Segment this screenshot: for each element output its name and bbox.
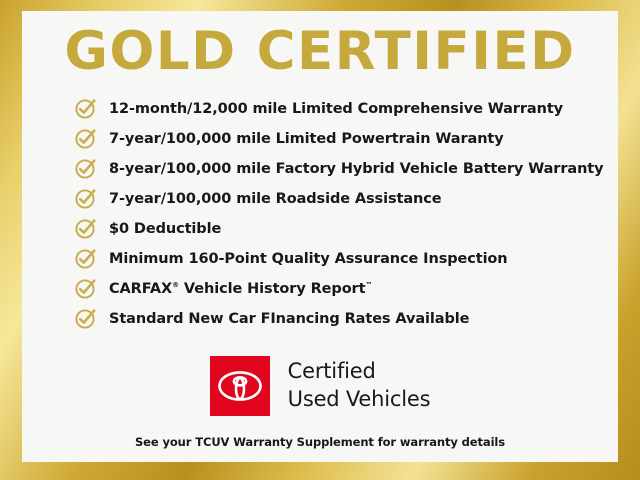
list-item: CARFAX® Vehicle History Report™ — [74, 274, 618, 304]
list-item: 8-year/100,000 mile Factory Hybrid Vehic… — [74, 154, 618, 184]
warranty-disclaimer: See your TCUV Warranty Supplement for wa… — [135, 435, 505, 449]
toyota-certified-badge: Certified Used Vehicles — [210, 356, 431, 416]
registered-mark: ® — [172, 281, 179, 289]
carfax-wordmark: CARFAX — [109, 281, 172, 297]
badge-line-1: Certified — [288, 358, 431, 386]
list-item: 12-month/12,000 mile Limited Comprehensi… — [74, 94, 618, 124]
list-item-label: Standard New Car FInancing Rates Availab… — [109, 311, 469, 327]
list-item: 7-year/100,000 mile Roadside Assistance — [74, 184, 618, 214]
list-item: Standard New Car FInancing Rates Availab… — [74, 304, 618, 334]
certificate-card: GOLD CERTIFIED 12-month/12,000 mile Limi… — [22, 11, 618, 462]
badge-text: Certified Used Vehicles — [288, 358, 431, 413]
gold-certified-certificate: GOLD CERTIFIED 12-month/12,000 mile Limi… — [0, 0, 640, 480]
check-circle-icon — [74, 96, 98, 120]
list-item-label: 7-year/100,000 mile Limited Powertrain W… — [109, 131, 504, 147]
check-circle-icon — [74, 276, 98, 300]
check-circle-icon — [74, 246, 98, 270]
check-circle-icon — [74, 216, 98, 240]
list-item: $0 Deductible — [74, 214, 618, 244]
list-item-label: $0 Deductible — [109, 221, 221, 237]
toyota-logo-icon — [210, 356, 270, 416]
check-circle-icon — [74, 186, 98, 210]
list-item-label: Minimum 160-Point Quality Assurance Insp… — [109, 251, 508, 267]
check-circle-icon — [74, 126, 98, 150]
carfax-report-text: Vehicle History Report — [179, 281, 365, 297]
list-item: 7-year/100,000 mile Limited Powertrain W… — [74, 124, 618, 154]
list-item-label: 12-month/12,000 mile Limited Comprehensi… — [109, 101, 563, 117]
check-circle-icon — [74, 306, 98, 330]
badge-line-2: Used Vehicles — [288, 386, 431, 414]
list-item-label: 7-year/100,000 mile Roadside Assistance — [109, 191, 441, 207]
trademark-mark: ™ — [365, 281, 372, 289]
check-circle-icon — [74, 156, 98, 180]
list-item-label: CARFAX® Vehicle History Report™ — [109, 281, 372, 297]
feature-list: 12-month/12,000 mile Limited Comprehensi… — [22, 94, 618, 334]
list-item-label: 8-year/100,000 mile Factory Hybrid Vehic… — [109, 161, 604, 177]
list-item: Minimum 160-Point Quality Assurance Insp… — [74, 244, 618, 274]
page-title: GOLD CERTIFIED — [64, 25, 575, 78]
